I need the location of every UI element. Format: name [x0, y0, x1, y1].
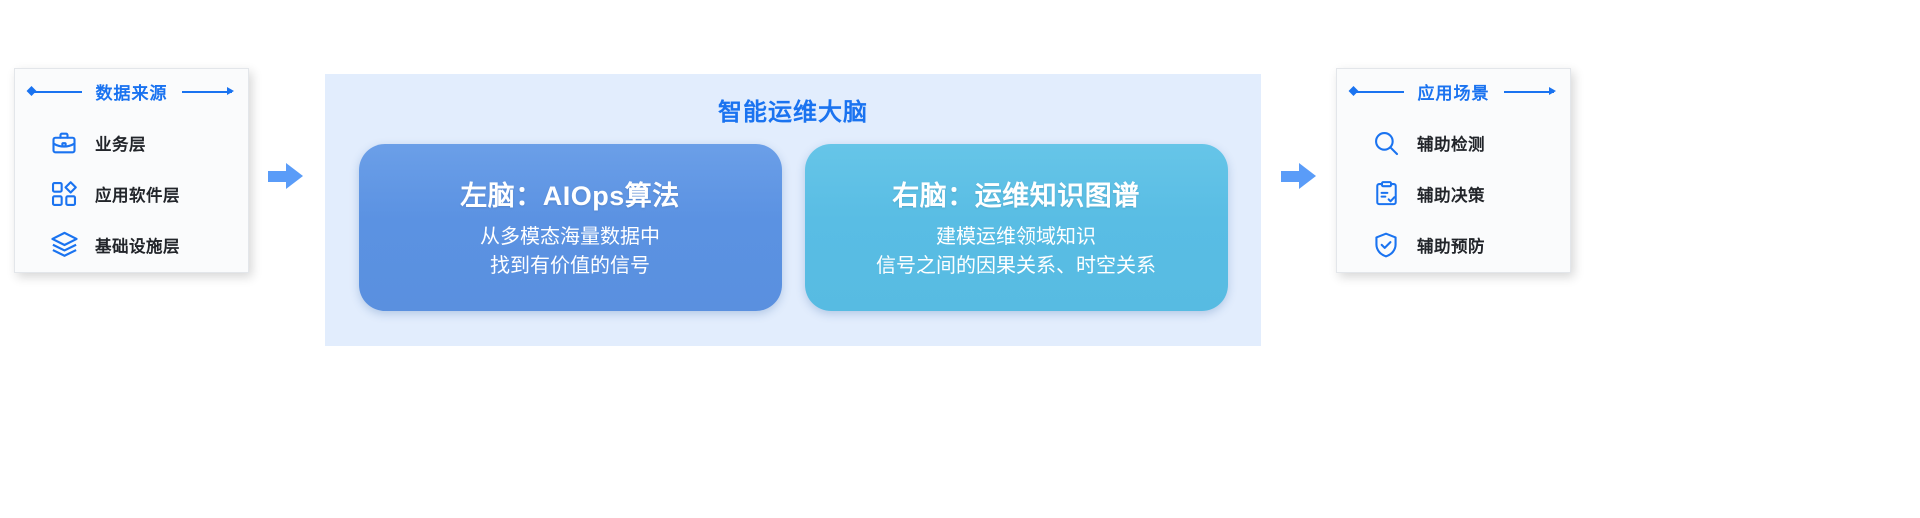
- application-scenario-list: 辅助检测 辅助决策 辅助预防: [1337, 113, 1570, 270]
- application-scenario-title: 应用场景: [1404, 79, 1504, 104]
- list-item[interactable]: 辅助检测: [1371, 117, 1570, 168]
- list-item[interactable]: 业务层: [49, 117, 248, 168]
- list-item[interactable]: 辅助决策: [1371, 168, 1570, 219]
- arrow-source-to-brain-icon: [268, 163, 304, 189]
- layers-icon: [49, 230, 79, 260]
- left-brain-card-subtitle: 从多模态海量数据中 找到有价值的信号: [480, 223, 660, 281]
- clipboard-check-icon: [1371, 179, 1401, 209]
- list-item[interactable]: 应用软件层: [49, 168, 248, 219]
- header-arrow-tip-icon: [227, 87, 234, 95]
- application-scenario-panel: 应用场景 辅助检测 辅助决策: [1336, 68, 1571, 273]
- right-brain-card-title: 右脑：运维知识图谱: [892, 174, 1140, 213]
- data-source-title: 数据来源: [82, 79, 182, 104]
- header-diamond-icon: [27, 86, 37, 96]
- list-item-label: 业务层: [95, 131, 146, 155]
- list-item-label: 辅助预防: [1417, 233, 1485, 257]
- arrow-head: [1299, 163, 1316, 189]
- magnifier-icon: [1371, 128, 1401, 158]
- right-brain-card[interactable]: 右脑：运维知识图谱 建模运维领域知识 信号之间的因果关系、时空关系: [805, 144, 1228, 311]
- data-source-panel: 数据来源 业务层: [14, 68, 249, 273]
- ops-brain-title: 智能运维大脑: [325, 74, 1261, 127]
- list-item[interactable]: 基础设施层: [49, 219, 248, 270]
- left-brain-card-line1: 从多模态海量数据中: [480, 223, 660, 252]
- header-diamond-icon: [1349, 86, 1359, 96]
- data-source-header: 数据来源: [15, 69, 248, 113]
- list-item-label: 应用软件层: [95, 182, 180, 206]
- arrow-brain-to-scenario-icon: [1281, 163, 1317, 189]
- arrow-head: [286, 163, 303, 189]
- left-brain-card-line2: 找到有价值的信号: [480, 252, 660, 281]
- list-item-label: 辅助检测: [1417, 131, 1485, 155]
- right-brain-card-subtitle: 建模运维领域知识 信号之间的因果关系、时空关系: [876, 223, 1156, 281]
- right-brain-card-line2: 信号之间的因果关系、时空关系: [876, 252, 1156, 281]
- left-brain-card-title: 左脑：AIOps算法: [460, 174, 680, 213]
- list-item[interactable]: 辅助预防: [1371, 219, 1570, 270]
- list-item-label: 辅助决策: [1417, 182, 1485, 206]
- briefcase-icon: [49, 128, 79, 158]
- left-brain-card[interactable]: 左脑：AIOps算法 从多模态海量数据中 找到有价值的信号: [359, 144, 782, 311]
- right-brain-card-line1: 建模运维领域知识: [876, 223, 1156, 252]
- header-arrow-tip-icon: [1549, 87, 1556, 95]
- application-scenario-header: 应用场景: [1337, 69, 1570, 113]
- ops-brain-section: 智能运维大脑 左脑：AIOps算法 从多模态海量数据中 找到有价值的信号 右脑：…: [325, 74, 1261, 346]
- list-item-label: 基础设施层: [95, 233, 180, 257]
- apps-grid-icon: [49, 179, 79, 209]
- shield-check-icon: [1371, 230, 1401, 260]
- data-source-list: 业务层 应用软件层 基础设施层: [15, 113, 248, 270]
- brain-cards: 左脑：AIOps算法 从多模态海量数据中 找到有价值的信号 右脑：运维知识图谱 …: [325, 144, 1261, 311]
